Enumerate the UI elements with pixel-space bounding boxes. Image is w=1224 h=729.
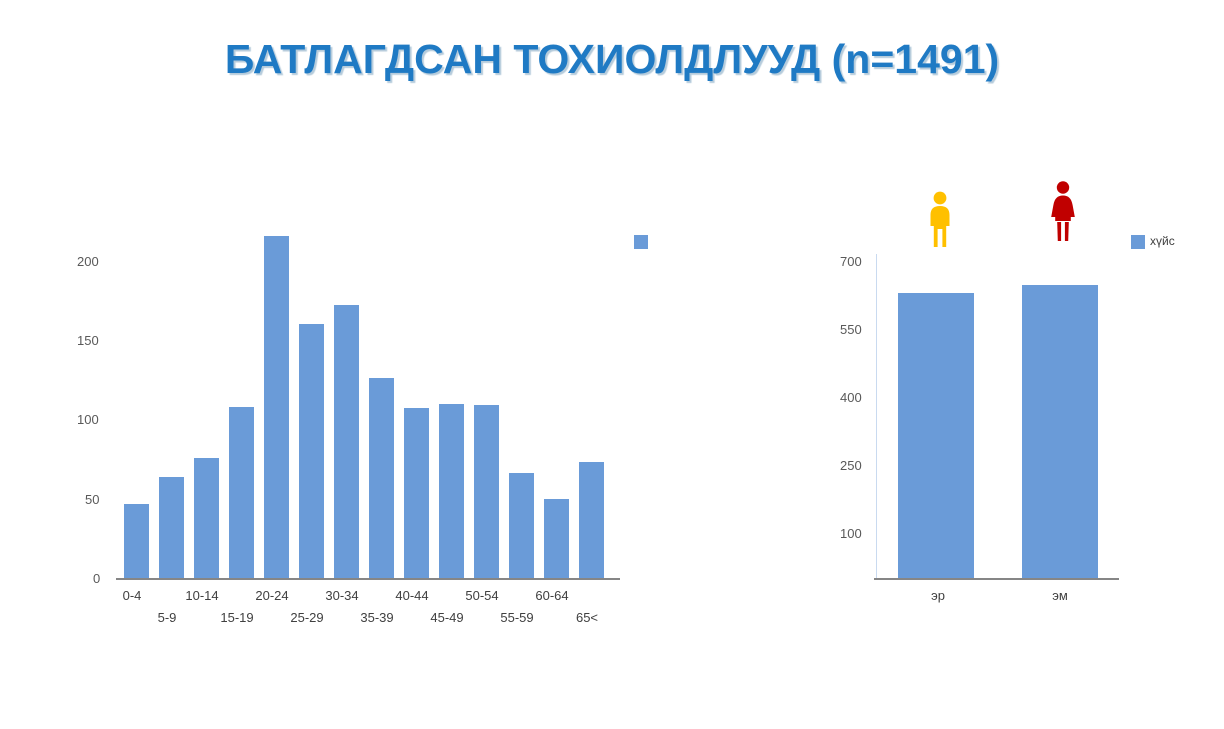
legend-swatch-age[interactable] [634,235,648,249]
x-axis-label-60-64: 60-64 [527,588,577,603]
bar-30-34[interactable] [334,305,359,578]
y-axis-tick-label: 200 [77,254,99,269]
bar-55-59[interactable] [509,473,534,578]
x-axis-label-20-24: 20-24 [247,588,297,603]
bar-20-24[interactable] [264,236,289,578]
x-axis-line [116,578,620,580]
x-axis-label-5-9: 5-9 [142,610,192,625]
plot-area [120,261,620,578]
bar-50-54[interactable] [474,405,499,578]
x-axis-label-15-19: 15-19 [212,610,262,625]
legend-label-sex: хүйс [1150,234,1175,248]
bar-45-49[interactable] [439,404,464,578]
bar-female[interactable] [1022,285,1098,578]
x-axis-label-male: эр [898,588,978,603]
bar-60-64[interactable] [544,499,569,578]
bar-35-39[interactable] [369,378,394,578]
x-axis-label-30-34: 30-34 [317,588,367,603]
x-axis-label-female: эм [1020,588,1100,603]
x-axis-label-35-39: 35-39 [352,610,402,625]
y-axis-tick-label: 400 [840,390,862,405]
x-axis-label-65plus: 65< [562,610,612,625]
page-title: БАТЛАГДСАН ТОХИОЛДЛУУД (n=1491) [0,36,1224,83]
bar-5-9[interactable] [159,477,184,578]
x-axis-line [874,578,1119,580]
y-axis-tick-label: 250 [840,458,862,473]
plot-area [878,261,1123,578]
y-axis-tick-label: 550 [840,322,862,337]
legend-swatch-sex[interactable] [1131,235,1145,249]
x-axis-label-10-14: 10-14 [177,588,227,603]
y-axis-tick-label: 100 [77,412,99,427]
y-axis-tick-label: 700 [840,254,862,269]
chart-age-distribution: 200 150 100 50 0 0-4 5-9 10-14 15-19 [60,230,660,630]
bar-25-29[interactable] [299,324,324,578]
y-axis-tick-label: 100 [840,526,862,541]
male-person-icon [925,190,955,253]
bar-male[interactable] [898,293,974,578]
slide-canvas: БАТЛАГДСАН ТОХИОЛДЛУУД (n=1491) 200 150 … [0,0,1224,729]
chart-sex-distribution: 700 550 400 250 100 [820,230,1220,630]
bar-65plus[interactable] [579,462,604,578]
female-person-icon [1048,180,1078,247]
x-axis-label-50-54: 50-54 [457,588,507,603]
x-axis-label-55-59: 55-59 [492,610,542,625]
bar-10-14[interactable] [194,458,219,579]
x-axis-label-45-49: 45-49 [422,610,472,625]
x-axis-label-0-4: 0-4 [107,588,157,603]
x-axis-label-25-29: 25-29 [282,610,332,625]
y-axis-tick-label: 50 [85,492,99,507]
y-axis-line [876,254,877,578]
x-axis-label-40-44: 40-44 [387,588,437,603]
bar-15-19[interactable] [229,407,254,578]
y-axis-tick-label: 0 [93,571,100,586]
bar-40-44[interactable] [404,408,429,578]
y-axis-tick-label: 150 [77,333,99,348]
bar-0-4[interactable] [124,504,149,579]
